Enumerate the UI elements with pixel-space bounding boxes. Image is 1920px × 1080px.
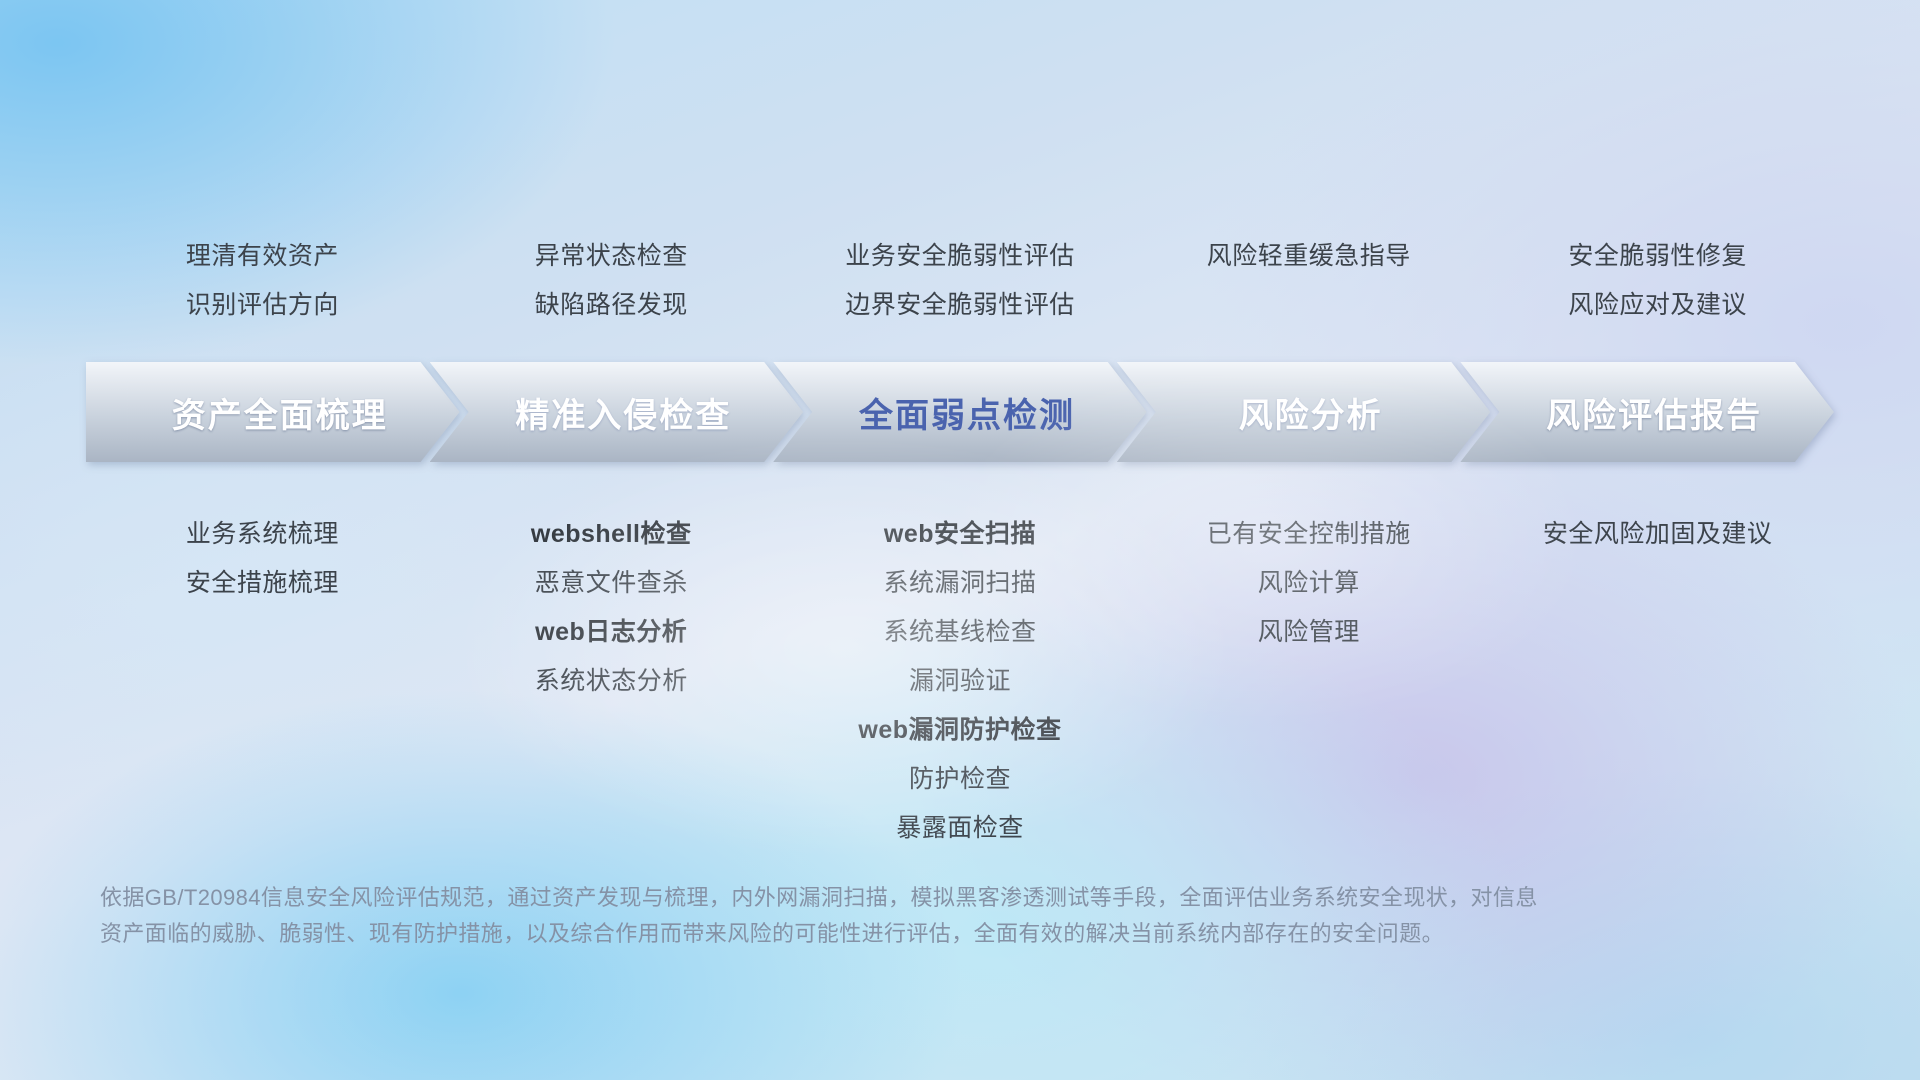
below-column-risk-analysis: 已有安全控制措施 风险计算 风险管理 — [1134, 510, 1483, 853]
below-item: 防护检查 — [786, 755, 1135, 804]
above-labels-row: 理清有效资产 识别评估方向 异常状态检查 缺陷路径发现 业务安全脆弱性评估 边界… — [88, 232, 1832, 330]
stage-arrow-label: 资产全面梳理 — [158, 388, 388, 437]
above-column-weakness-detection: 业务安全脆弱性评估 边界安全脆弱性评估 — [786, 232, 1135, 330]
above-item: 风险应对及建议 — [1483, 281, 1832, 330]
below-item: 风险管理 — [1134, 608, 1483, 657]
above-item: 识别评估方向 — [88, 281, 437, 330]
footer-description: 依据GB/T20984信息安全风险评估规范，通过资产发现与梳理，内外网漏洞扫描，… — [100, 880, 1660, 952]
above-item: 缺陷路径发现 — [437, 281, 786, 330]
stage-arrow-weakness-detection[interactable]: 全面弱点检测 — [775, 364, 1145, 460]
stage-arrow-intrusion-check[interactable]: 精准入侵检查 — [432, 364, 802, 460]
above-column-intrusion-check: 异常状态检查 缺陷路径发现 — [437, 232, 786, 330]
below-item: 风险计算 — [1134, 559, 1483, 608]
below-item: 漏洞验证 — [786, 657, 1135, 706]
footer-line-1: 依据GB/T20984信息安全风险评估规范，通过资产发现与梳理，内外网漏洞扫描，… — [100, 880, 1660, 916]
above-item: 业务安全脆弱性评估 — [786, 232, 1135, 281]
above-item: 边界安全脆弱性评估 — [786, 281, 1135, 330]
below-item: 系统状态分析 — [437, 657, 786, 706]
stage-arrow-risk-report[interactable]: 风险评估报告 — [1462, 364, 1832, 460]
footer-line-2: 资产面临的威胁、脆弱性、现有防护措施，以及综合作用而带来风险的可能性进行评估，全… — [100, 916, 1660, 952]
below-column-risk-report: 安全风险加固及建议 — [1483, 510, 1832, 853]
below-item: webshell检查 — [437, 510, 786, 559]
stage-arrow-label: 风险分析 — [1225, 388, 1383, 437]
below-column-weakness-detection: web安全扫描 系统漏洞扫描 系统基线检查 漏洞验证 web漏洞防护检查 防护检… — [786, 510, 1135, 853]
stage-arrow-label: 全面弱点检测 — [845, 388, 1075, 437]
above-column-asset-inventory: 理清有效资产 识别评估方向 — [88, 232, 437, 330]
stage-arrow-asset-inventory[interactable]: 资产全面梳理 — [88, 364, 458, 460]
stage-arrow-label: 风险评估报告 — [1532, 388, 1762, 437]
below-item: 系统漏洞扫描 — [786, 559, 1135, 608]
above-item: 异常状态检查 — [437, 232, 786, 281]
below-item: 已有安全控制措施 — [1134, 510, 1483, 559]
below-item: web安全扫描 — [786, 510, 1135, 559]
process-arrow-band: 资产全面梳理 精准入侵检查 全面弱点检测 风险分析 风险评估报告 — [88, 364, 1832, 460]
below-item: web漏洞防护检查 — [786, 706, 1135, 755]
above-column-risk-report: 安全脆弱性修复 风险应对及建议 — [1483, 232, 1832, 330]
below-item: 业务系统梳理 — [88, 510, 437, 559]
stage-arrow-risk-analysis[interactable]: 风险分析 — [1119, 364, 1489, 460]
below-column-asset-inventory: 业务系统梳理 安全措施梳理 — [88, 510, 437, 853]
above-item: 风险轻重缓急指导 — [1134, 232, 1483, 281]
stage-arrow-label: 精准入侵检查 — [501, 388, 731, 437]
below-labels-row: 业务系统梳理 安全措施梳理 webshell检查 恶意文件查杀 web日志分析 … — [88, 510, 1832, 853]
below-item: web日志分析 — [437, 608, 786, 657]
above-item: 安全脆弱性修复 — [1483, 232, 1832, 281]
below-item: 安全风险加固及建议 — [1483, 510, 1832, 559]
above-column-risk-analysis: 风险轻重缓急指导 — [1134, 232, 1483, 330]
below-item: 暴露面检查 — [786, 804, 1135, 853]
below-item: 安全措施梳理 — [88, 559, 437, 608]
below-item: 系统基线检查 — [786, 608, 1135, 657]
below-item: 恶意文件查杀 — [437, 559, 786, 608]
above-item: 理清有效资产 — [88, 232, 437, 281]
below-column-intrusion-check: webshell检查 恶意文件查杀 web日志分析 系统状态分析 — [437, 510, 786, 853]
infographic-canvas: 理清有效资产 识别评估方向 异常状态检查 缺陷路径发现 业务安全脆弱性评估 边界… — [0, 0, 1920, 1080]
